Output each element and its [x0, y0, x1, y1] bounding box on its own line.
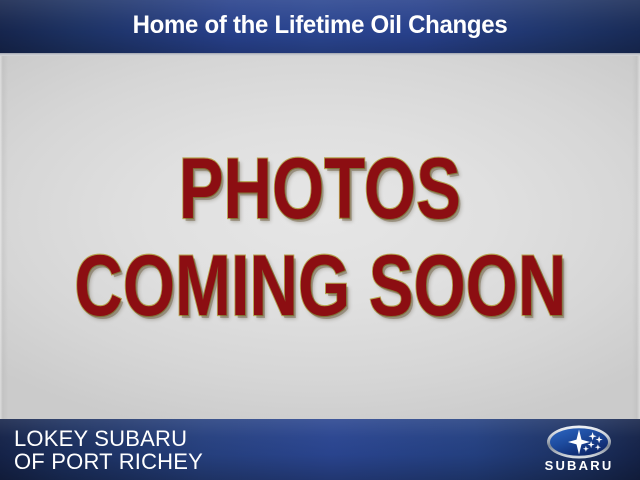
header-tagline: Home of the Lifetime Oil Changes — [13, 0, 627, 53]
placeholder-message-line-1: PHOTOS — [179, 147, 461, 231]
subaru-pleiades-icon — [530, 425, 628, 461]
placeholder-message: PHOTOS COMING SOON — [0, 56, 640, 419]
dealer-name: LOKEY SUBARU OF PORT RICHEY — [14, 427, 203, 473]
dealer-name-line-2: OF PORT RICHEY — [14, 450, 203, 473]
photos-coming-soon-placeholder: Home of the Lifetime Oil Changes PHOTOS … — [0, 0, 640, 480]
subaru-wordmark: SUBARU — [530, 459, 628, 473]
footer-banner: LOKEY SUBARU OF PORT RICHEY — [0, 419, 640, 480]
header-banner: Home of the Lifetime Oil Changes — [0, 0, 640, 53]
placeholder-message-line-2: COMING SOON — [74, 244, 566, 328]
subaru-logo: SUBARU — [530, 425, 628, 477]
dealer-name-line-1: LOKEY SUBARU — [14, 427, 203, 450]
